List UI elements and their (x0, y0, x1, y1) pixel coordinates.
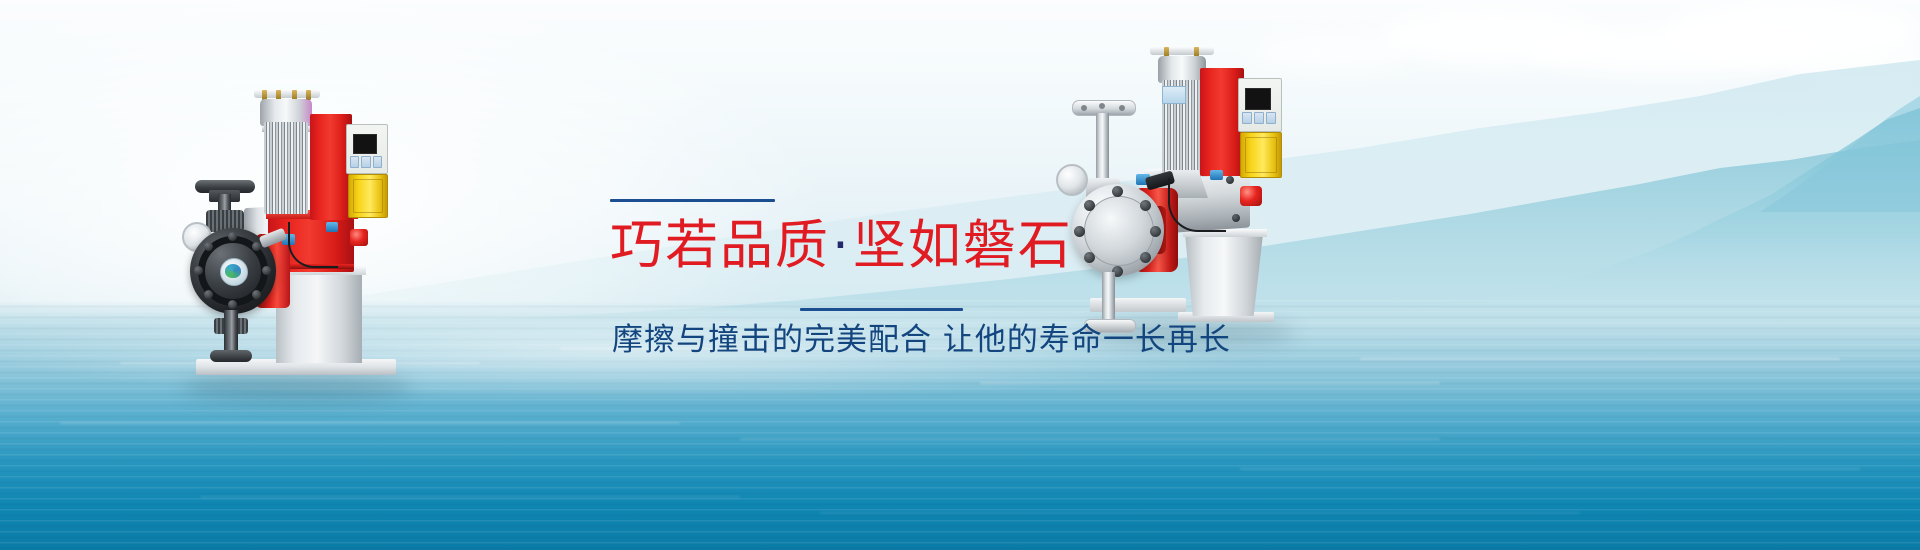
headline-rule-top (610, 199, 775, 202)
headline-part-2: 坚如磐石 (853, 215, 1073, 276)
headline-rule-bottom (800, 308, 963, 311)
banner-headline: 巧若品质·坚如磐石 (610, 215, 1073, 277)
hero-banner: 巧若品质·坚如磐石 摩擦与撞击的完美配合 让他的寿命一长再长 (0, 0, 1920, 550)
headline-separator-dot: · (830, 215, 853, 276)
banner-subheadline: 摩擦与撞击的完美配合 让他的寿命一长再长 (612, 318, 1231, 362)
banner-copy-block: 巧若品质·坚如磐石 摩擦与撞击的完美配合 让他的寿命一长再长 (0, 0, 1920, 550)
headline-part-1: 巧若品质 (610, 215, 830, 276)
